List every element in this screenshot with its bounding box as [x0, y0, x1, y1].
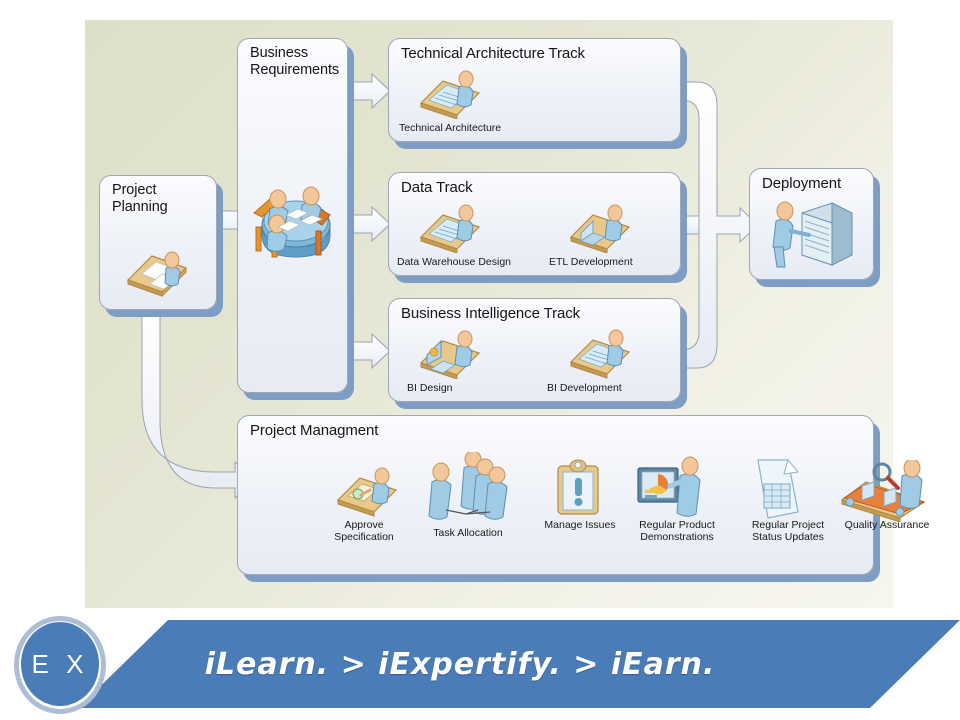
arrow-requirements-to-data — [348, 207, 390, 241]
clipboard-exclamation-icon — [550, 458, 606, 522]
diagram-canvas: Project Planning Business Requirements — [85, 20, 893, 608]
data-track-title: Data Track — [401, 179, 473, 196]
node-business-requirements[interactable]: Business Requirements — [237, 38, 348, 393]
person-at-desk-icon — [122, 238, 194, 300]
node-deployment[interactable]: Deployment — [749, 168, 874, 280]
person-at-monitor-icon — [417, 325, 489, 379]
group-of-people-icon — [424, 452, 514, 522]
node-project-management[interactable]: Project Managment Approve Specification … — [237, 415, 874, 575]
tagline: iLearn. > iExpertify. > iEarn. — [140, 614, 780, 714]
logo-ex: E X — [21, 622, 99, 706]
person-signing-document-icon — [334, 462, 406, 518]
arrow-requirements-to-bi — [348, 334, 390, 368]
person-presenting-chart-icon — [634, 456, 710, 522]
deployment-title: Deployment — [762, 175, 841, 192]
person-at-drafting-table-icon — [417, 67, 489, 119]
regular-product-demonstrations-label: Regular Product Demonstrations — [610, 520, 744, 544]
person-at-server-rack-icon — [768, 197, 860, 273]
document-table-icon — [748, 456, 806, 522]
meeting-table-icon — [244, 169, 342, 269]
etl-development-label: ETL Development — [549, 257, 689, 269]
project-planning-title: Project Planning — [112, 182, 168, 215]
person-at-drafting-table-icon — [567, 325, 639, 379]
person-at-computer-icon — [567, 199, 639, 253]
technical-architecture-label: Technical Architecture — [399, 123, 559, 135]
bi-design-label: BI Design — [407, 383, 517, 395]
project-management-title: Project Managment — [250, 422, 378, 439]
business-requirements-title: Business Requirements — [250, 45, 339, 78]
task-allocation-label: Task Allocation — [400, 528, 536, 540]
magnifier-conveyor-icon — [838, 460, 932, 522]
quality-assurance-label: Quality Assurance — [822, 520, 952, 532]
node-technical-architecture-track[interactable]: Technical Architecture Track Technical A… — [388, 38, 681, 142]
node-business-intelligence-track[interactable]: Business Intelligence Track BI Design BI… — [388, 298, 681, 402]
person-at-drafting-table-icon — [417, 201, 489, 253]
bi-development-label: BI Development — [547, 383, 677, 395]
arrow-requirements-to-ta — [348, 74, 390, 108]
arrow-data-track-stub — [681, 216, 699, 234]
node-data-track[interactable]: Data Track Data Warehouse Design ETL Dev… — [388, 172, 681, 276]
business-intelligence-track-title: Business Intelligence Track — [401, 305, 580, 322]
data-warehouse-design-label: Data Warehouse Design — [397, 257, 547, 269]
node-project-planning[interactable]: Project Planning — [99, 175, 217, 310]
technical-architecture-track-title: Technical Architecture Track — [401, 45, 585, 62]
